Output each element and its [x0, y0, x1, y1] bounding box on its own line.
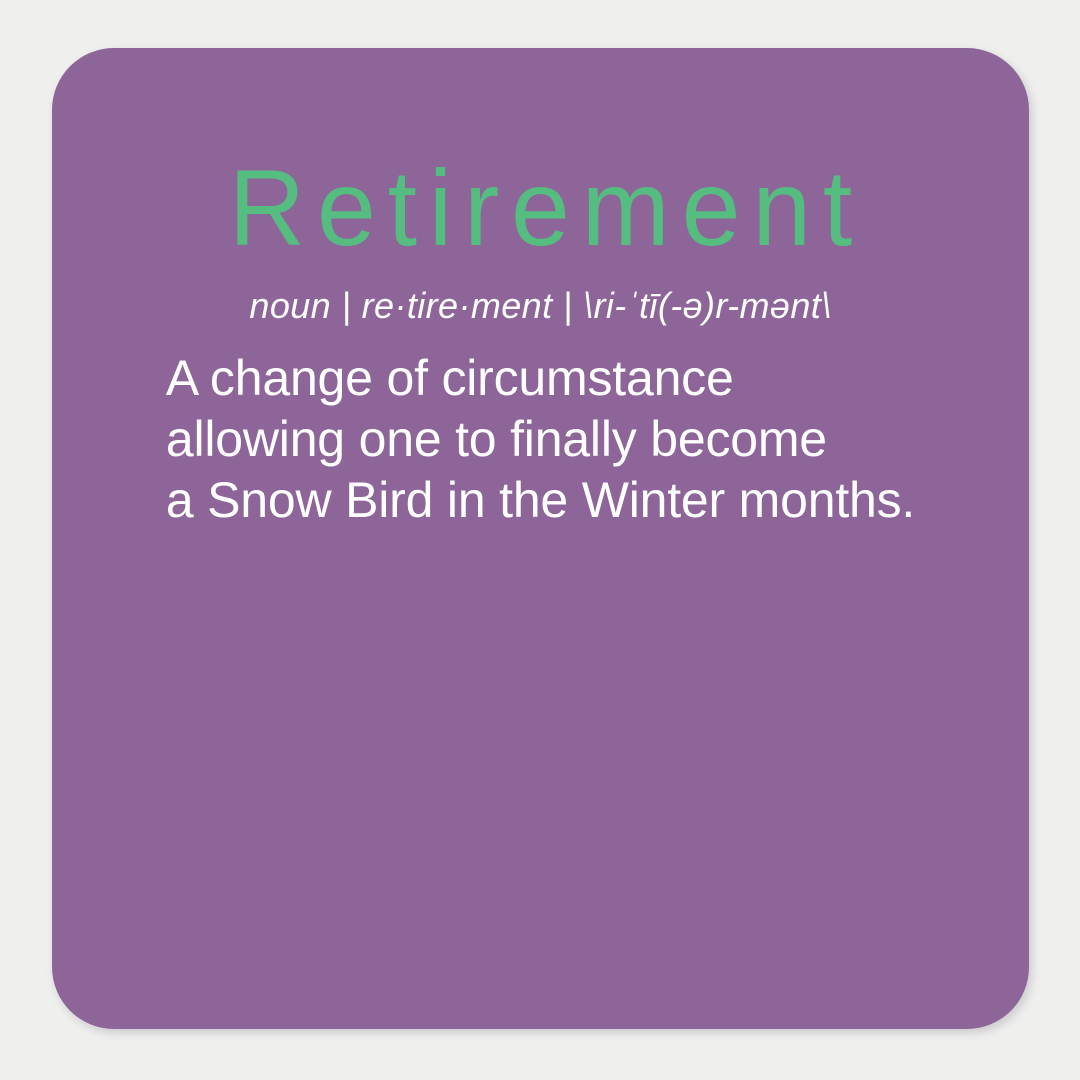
definition-line: A change of circumstance: [166, 348, 915, 409]
sticker-square: Retirement noun | re·tire·ment | \ri-ˈtī…: [52, 48, 1029, 1029]
definition-line: allowing one to finally become: [166, 409, 915, 470]
definition-line: a Snow Bird in the Winter months.: [166, 470, 915, 531]
definition-lines: A change of circumstance allowing one to…: [166, 348, 915, 531]
canvas: Retirement noun | re·tire·ment | \ri-ˈtī…: [0, 0, 1080, 1080]
pronunciation-line: noun | re·tire·ment | \ri-ˈtī(-ə)r-mənt\: [52, 285, 1029, 327]
page-title: Retirement: [62, 152, 1019, 264]
definition-block: A change of circumstance allowing one to…: [52, 348, 1029, 531]
